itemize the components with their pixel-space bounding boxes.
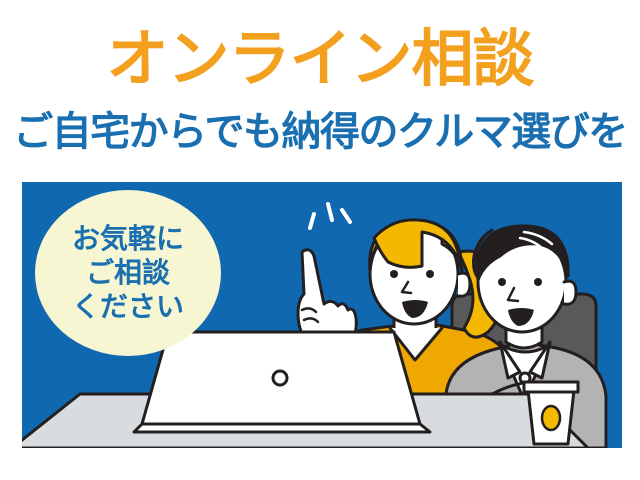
page-title: オンライン相談 <box>0 22 640 98</box>
illustration-panel: お気軽に ご相談 ください <box>22 182 622 448</box>
laptop-logo <box>273 371 287 385</box>
bubble-line-3: ください <box>72 290 184 324</box>
laptop-base <box>134 424 430 432</box>
coffee-cup <box>524 382 578 444</box>
bubble-line-1: お気軽に <box>72 222 184 256</box>
page-subtitle: ご自宅からでも納得のクルマ選びを <box>0 108 640 156</box>
sparkle-lines <box>310 204 350 228</box>
bubble-line-2: ご相談 <box>86 256 170 290</box>
banner-canvas: オンライン相談 ご自宅からでも納得のクルマ選びを <box>0 0 640 480</box>
speech-bubble: お気軽に ご相談 ください <box>35 190 221 356</box>
